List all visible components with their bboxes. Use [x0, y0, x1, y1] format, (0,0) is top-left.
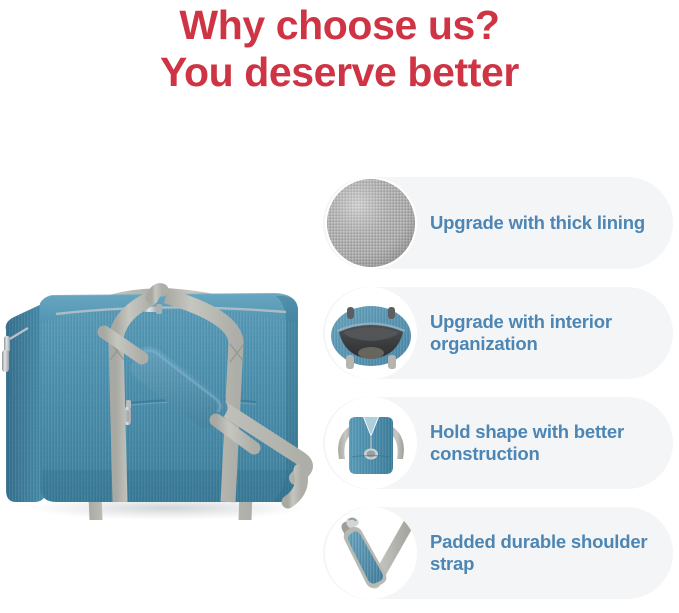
feature-label: Upgrade with thick lining [430, 212, 655, 234]
headline-line-1: Why choose us? [0, 2, 679, 49]
bag-front-standing-icon [325, 397, 417, 489]
feature-card-thick-lining[interactable]: Upgrade with thick lining [323, 177, 673, 269]
padded-shoulder-strap-icon [325, 507, 417, 599]
feature-label: Padded durable shoulder strap [430, 531, 673, 575]
headline-line-2: You deserve better [0, 49, 679, 96]
feature-label: Hold shape with better construction [430, 421, 673, 465]
page-title: Why choose us? You deserve better [0, 2, 679, 96]
feature-card-hold-shape[interactable]: Hold shape with better construction [323, 397, 673, 489]
feature-card-shoulder-strap[interactable]: Padded durable shoulder strap [323, 507, 673, 599]
feature-card-list: Upgrade with thick lining [323, 177, 673, 599]
feature-card-interior-organization[interactable]: Upgrade with interior organization [323, 287, 673, 379]
bag-interior-topview-icon [325, 287, 417, 379]
mesh-lining-swatch-icon [325, 177, 417, 269]
product-hero-image [0, 190, 330, 520]
feature-label: Upgrade with interior organization [430, 311, 673, 355]
